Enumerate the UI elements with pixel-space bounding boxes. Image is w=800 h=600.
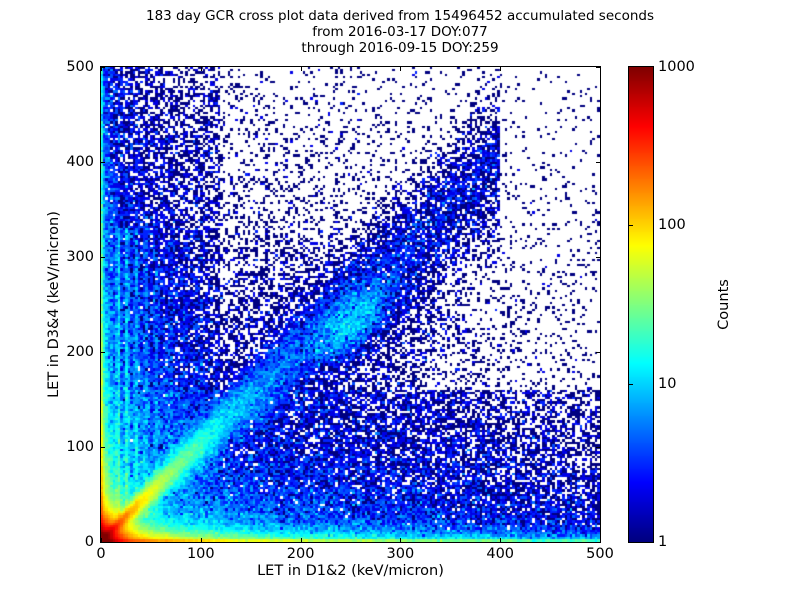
x-tick-mark-top bbox=[201, 67, 202, 71]
x-tick-mark bbox=[301, 538, 302, 542]
x-tick-mark bbox=[400, 538, 401, 542]
x-tick-mark bbox=[500, 538, 501, 542]
x-tick-label: 200 bbox=[287, 546, 315, 562]
plot-area bbox=[100, 66, 601, 543]
y-tick-mark bbox=[101, 257, 105, 258]
x-tick-mark-top bbox=[500, 67, 501, 71]
colorbar-tick-label: 100 bbox=[658, 217, 686, 233]
y-axis-label: LET in D3&4 (keV/micron) bbox=[46, 66, 62, 543]
x-tick-label: 400 bbox=[486, 546, 514, 562]
x-tick-mark bbox=[201, 538, 202, 542]
x-axis-label: LET in D1&2 (keV/micron) bbox=[100, 563, 601, 579]
x-tick-mark bbox=[600, 538, 601, 542]
colorbar-label: Counts bbox=[716, 66, 732, 543]
colorbar-tick-label: 1 bbox=[658, 534, 667, 550]
colorbar bbox=[628, 66, 654, 543]
colorbar-tick-label: 1000 bbox=[658, 59, 695, 75]
figure-canvas: 183 day GCR cross plot data derived from… bbox=[0, 0, 800, 600]
y-tick-mark bbox=[101, 542, 105, 543]
y-tick-mark-right bbox=[596, 542, 600, 543]
x-tick-mark-top bbox=[400, 67, 401, 71]
x-tick-label: 500 bbox=[586, 546, 614, 562]
title-line-1: 183 day GCR cross plot data derived from… bbox=[0, 8, 800, 24]
title-line-2: from 2016-03-17 DOY:077 bbox=[0, 24, 800, 40]
cross-plot-heatmap bbox=[101, 67, 600, 542]
x-tick-label: 0 bbox=[96, 546, 105, 562]
x-tick-label: 100 bbox=[187, 546, 215, 562]
y-tick-mark-right bbox=[596, 162, 600, 163]
colorbar-gradient bbox=[629, 67, 653, 542]
colorbar-tick-mark bbox=[629, 384, 633, 385]
y-tick-mark-right bbox=[596, 257, 600, 258]
y-tick-mark bbox=[101, 162, 105, 163]
y-tick-mark-right bbox=[596, 447, 600, 448]
y-tick-mark bbox=[101, 447, 105, 448]
x-tick-mark-top bbox=[301, 67, 302, 71]
chart-title: 183 day GCR cross plot data derived from… bbox=[0, 8, 800, 56]
title-line-3: through 2016-09-15 DOY:259 bbox=[0, 40, 800, 56]
x-tick-label: 300 bbox=[387, 546, 415, 562]
y-tick-mark bbox=[101, 67, 105, 68]
colorbar-tick-label: 10 bbox=[658, 376, 676, 392]
y-tick-mark-right bbox=[596, 67, 600, 68]
y-tick-mark-right bbox=[596, 352, 600, 353]
colorbar-tick-mark bbox=[629, 225, 633, 226]
x-tick-mark-top bbox=[600, 67, 601, 71]
y-tick-mark bbox=[101, 352, 105, 353]
